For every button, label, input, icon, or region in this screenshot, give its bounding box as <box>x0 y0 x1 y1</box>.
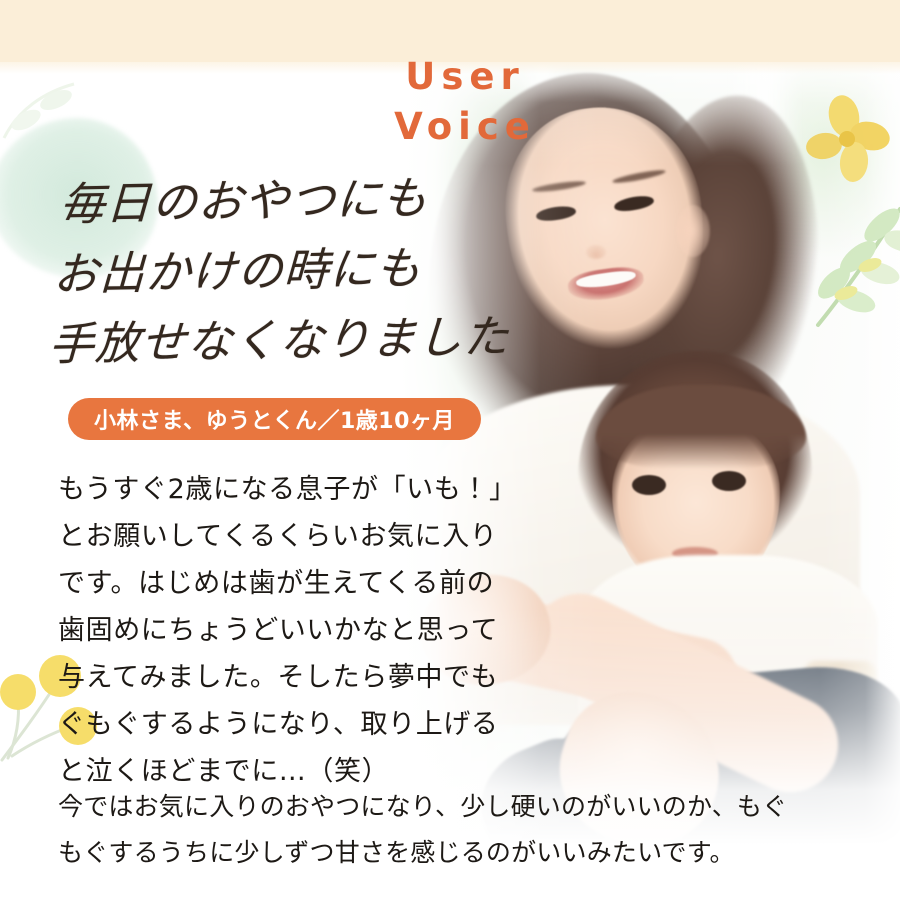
user-voice-title: User Voice <box>330 52 600 152</box>
testimonial-content: User Voice 毎日のおやつにも お出かけの時にも 手放せなくなりました … <box>0 0 900 900</box>
headline-line-1: 毎日のおやつにも <box>59 162 526 240</box>
testimonial-body-column: もうすぐ2歳になる息子が「いも！」とお願いしてくるくらいお気に入りです。はじめは… <box>58 466 520 795</box>
user-voice-title-line1: User <box>405 55 524 98</box>
testimonial-wide-line-1: 今ではお気に入りのおやつになり、少し硬いのがいいのか、もぐ <box>58 784 858 830</box>
user-voice-section: User Voice 毎日のおやつにも お出かけの時にも 手放せなくなりました … <box>0 0 900 900</box>
testimonial-body-wide: 今ではお気に入りのおやつになり、少し硬いのがいいのか、もぐ もぐするうちに少しず… <box>58 784 858 876</box>
user-voice-title-line2: Voice <box>330 102 600 152</box>
headline: 毎日のおやつにも お出かけの時にも 手放せなくなりました <box>48 162 526 380</box>
headline-line-2: お出かけの時にも <box>52 232 523 310</box>
testimonial-wide-line-2: もぐするうちに少しずつ甘さを感じるのがいいみたいです。 <box>58 830 858 876</box>
reviewer-badge: 小林さま、ゆうとくん／1歳10ヶ月 <box>68 398 481 440</box>
testimonial-paragraph: もうすぐ2歳になる息子が「いも！」とお願いしてくるくらいお気に入りです。はじめは… <box>58 466 520 795</box>
headline-line-3: 手放せなくなりました <box>48 302 521 380</box>
